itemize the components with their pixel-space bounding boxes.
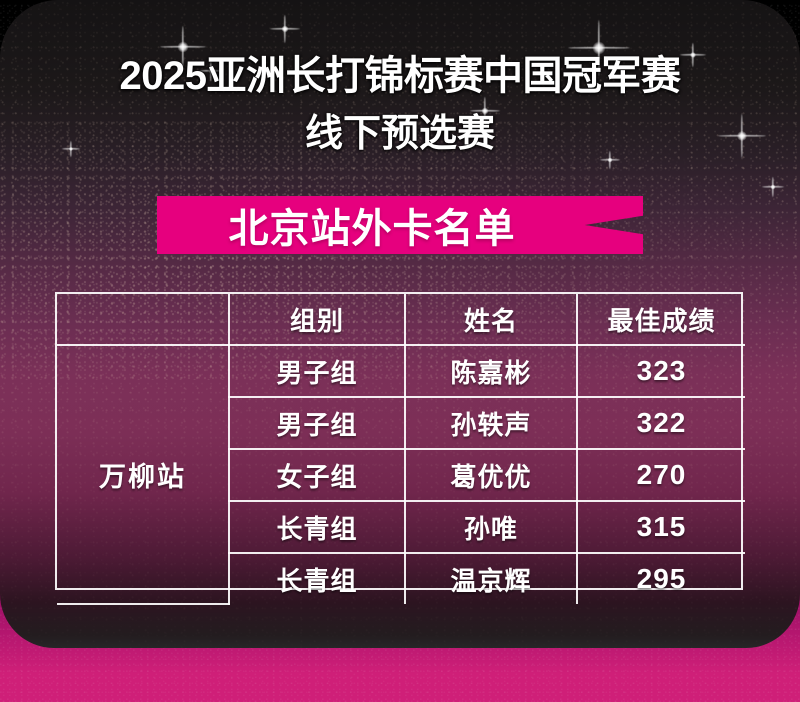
table-cell-score: 295 [577, 553, 745, 604]
title-block: 2025亚洲长打锦标赛中国冠军赛 线下预选赛 [0, 56, 800, 153]
poster-title-line-1: 2025亚洲长打锦标赛中国冠军赛 [0, 56, 800, 96]
table-cell-group: 长青组 [229, 553, 405, 604]
table-cell-score: 322 [577, 397, 745, 449]
table-header-group: 组别 [229, 294, 405, 345]
table-cell-score: 315 [577, 501, 745, 553]
table-cell-name: 孙轶声 [405, 397, 577, 449]
table-header-row: 组别 姓名 最佳成绩 [57, 294, 745, 345]
table-cell-venue: 万柳站 [57, 345, 229, 604]
table-header-name: 姓名 [405, 294, 577, 345]
table-cell-group: 男子组 [229, 397, 405, 449]
table-cell-group: 长青组 [229, 501, 405, 553]
table-cell-group: 男子组 [229, 345, 405, 397]
sparkle-star-icon [762, 176, 784, 198]
ribbon-banner: 北京站外卡名单 [157, 196, 643, 254]
poster-card: 2025亚洲长打锦标赛中国冠军赛 线下预选赛 北京站外卡名单 组别 姓名 最佳成… [0, 0, 800, 648]
table-cell-name: 陈嘉彬 [405, 345, 577, 397]
table-row: 万柳站 男子组 陈嘉彬 323 [57, 345, 745, 397]
ribbon-label: 北京站外卡名单 [157, 196, 587, 254]
sparkle-star-icon [600, 150, 620, 170]
table-header-venue [57, 294, 229, 345]
poster-title-line-2: 线下预选赛 [0, 115, 800, 153]
table-cell-group: 女子组 [229, 449, 405, 501]
sparkle-star-icon [270, 14, 300, 44]
table-cell-name: 孙唯 [405, 501, 577, 553]
table-cell-score: 270 [577, 449, 745, 501]
table-cell-name: 温京辉 [405, 553, 577, 604]
table-cell-name: 葛优优 [405, 449, 577, 501]
table-header-score: 最佳成绩 [577, 294, 745, 345]
poster-root: 2025亚洲长打锦标赛中国冠军赛 线下预选赛 北京站外卡名单 组别 姓名 最佳成… [0, 0, 800, 702]
wildcard-table: 组别 姓名 最佳成绩 万柳站 男子组 陈嘉彬 323 男子组 孙轶声 322 [55, 292, 743, 590]
table-cell-score: 323 [577, 345, 745, 397]
